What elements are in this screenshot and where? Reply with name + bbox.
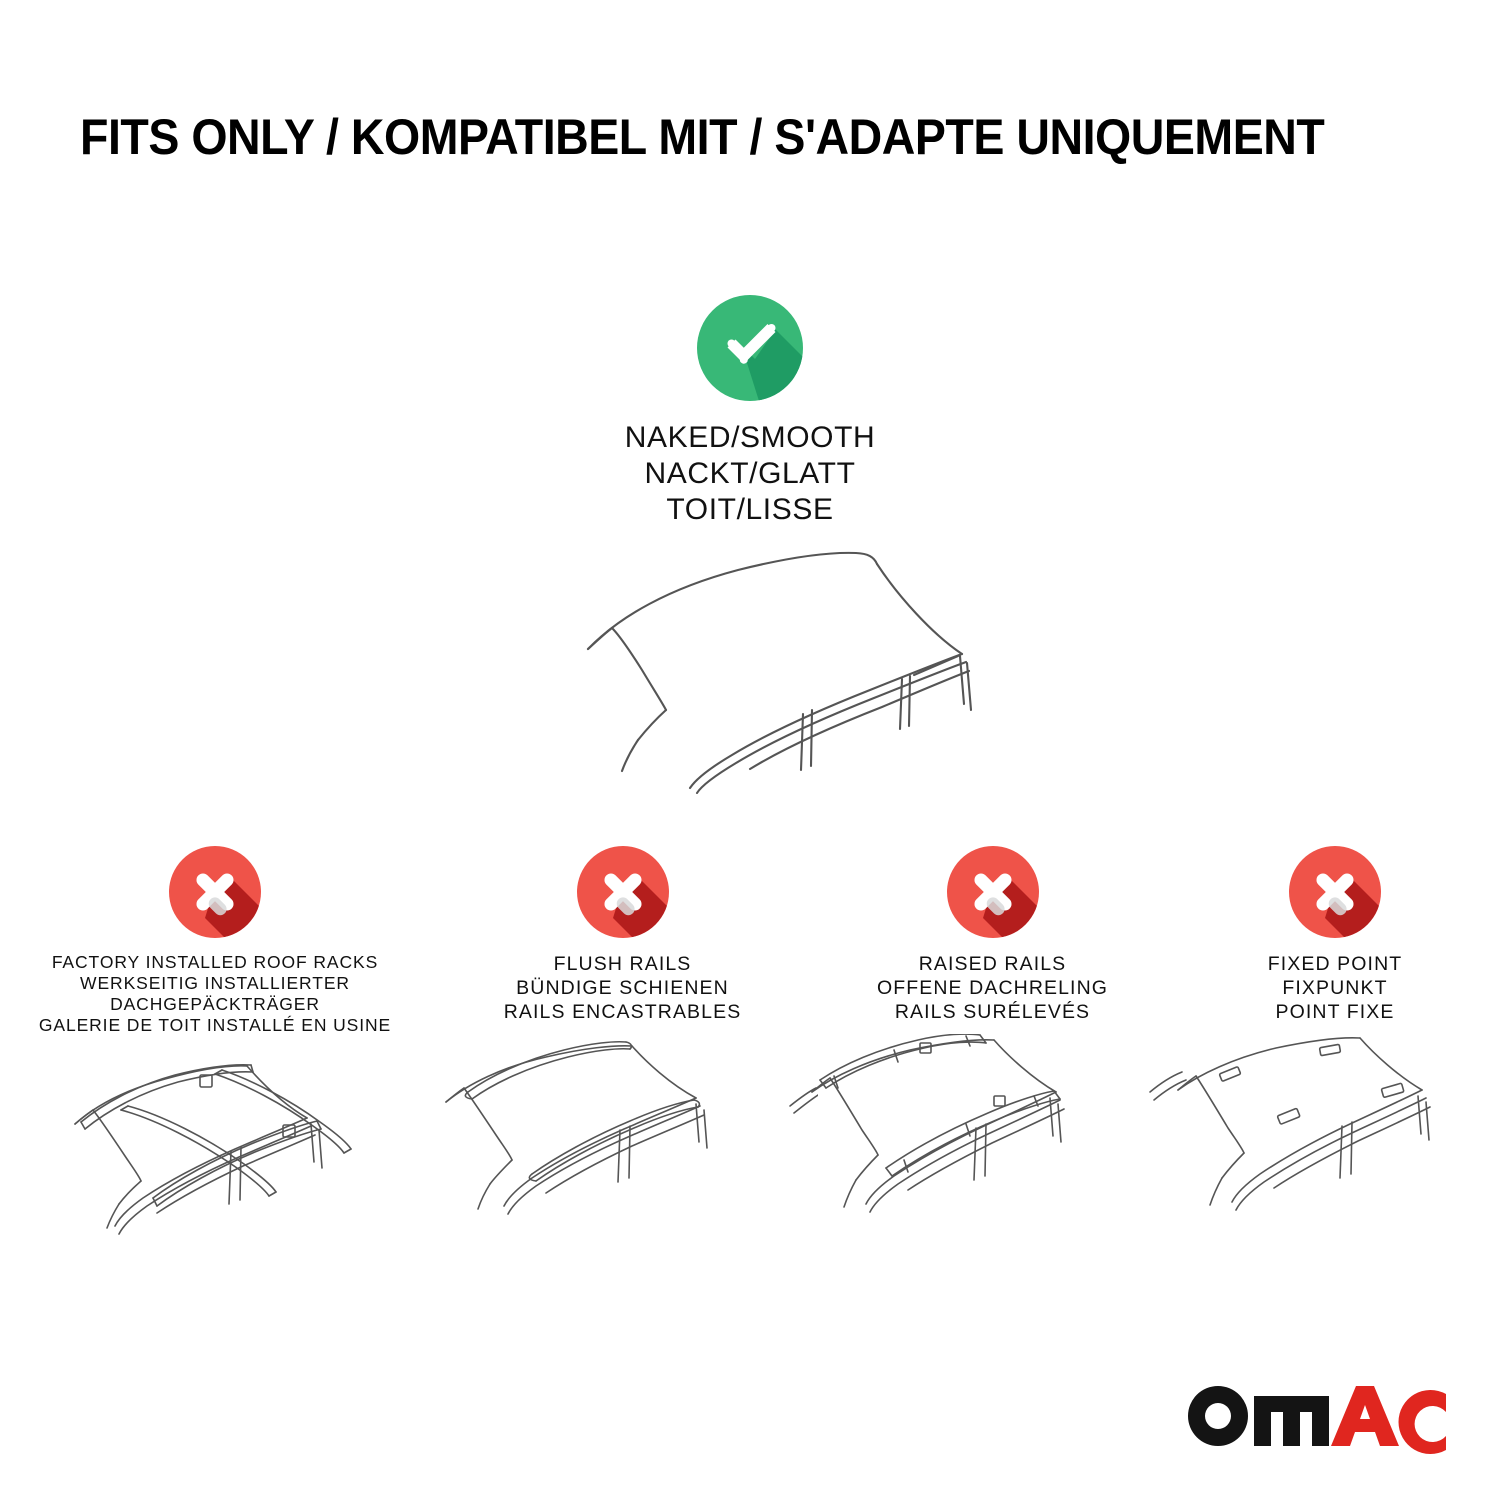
omac-logo-letter-a (1331, 1386, 1399, 1446)
x-circle-icon (577, 840, 669, 944)
page-title: FITS ONLY / KOMPATIBEL MIT / S'ADAPTE UN… (80, 108, 1345, 166)
omac-logo-svg: OMAC (1188, 1374, 1448, 1458)
x-circle-icon (947, 840, 1039, 944)
compatible-label: NAKED/SMOOTH NACKT/GLATT TOIT/LISSE (0, 420, 1500, 528)
incompatible-label-2-line-1: RAISED RAILS (877, 952, 1108, 976)
omac-logo-letter-o (1188, 1386, 1248, 1446)
incompatible-label-0: FACTORY INSTALLED ROOF RACKS WERKSEITIG … (39, 952, 391, 1036)
incompatible-label-0-line-3: DACHGEPÄCKTRÄGER (39, 994, 391, 1015)
car-roof-factory-installed-roof-racks-illustration (15, 1046, 415, 1251)
incompatible-item-raised-rails: RAISED RAILS OFFENE DACHRELING RAILS SUR… (815, 840, 1170, 1239)
incompatible-label-0-line-1: FACTORY INSTALLED ROOF RACKS (39, 952, 391, 973)
incompatible-section: FACTORY INSTALLED ROOF RACKS WERKSEITIG … (0, 840, 1500, 1251)
compatible-label-line-1: NAKED/SMOOTH (0, 420, 1500, 456)
x-circle-icon (169, 840, 261, 944)
car-roof-naked-smooth-svg (470, 544, 1030, 794)
car-roof-fixed-point-illustration (1170, 1034, 1500, 1239)
incompatible-item-fixed-point: FIXED POINT FIXPUNKT POINT FIXE (1170, 840, 1500, 1239)
car-roof-raised-rails-illustration (798, 1034, 1188, 1239)
check-circle-icon-wrap (0, 295, 1500, 406)
incompatible-label-1: FLUSH RAILS BÜNDIGE SCHIENEN RAILS ENCAS… (504, 952, 742, 1024)
incompatible-label-2-line-3: RAILS SURÉLEVÉS (877, 1000, 1108, 1024)
car-roof-fixed-point-svg (1170, 1034, 1500, 1234)
car-roof-flush-rails-svg (428, 1034, 818, 1234)
compatible-section: NAKED/SMOOTH NACKT/GLATT TOIT/LISSE (0, 295, 1500, 799)
incompatible-label-0-line-2: WERKSEITIG INSTALLIERTER (39, 973, 391, 994)
omac-logo: OMAC (1188, 1374, 1448, 1458)
omac-logo-letter-c (1399, 1390, 1446, 1454)
car-roof-raised-rails-svg (798, 1034, 1188, 1234)
check-circle-icon (697, 295, 803, 401)
car-roof-factory-installed-roof-racks-svg (15, 1046, 415, 1246)
incompatible-label-2: RAISED RAILS OFFENE DACHRELING RAILS SUR… (877, 952, 1108, 1024)
compatible-label-line-2: NACKT/GLATT (0, 456, 1500, 492)
incompatible-label-3-line-1: FIXED POINT (1268, 952, 1403, 976)
incompatible-label-1-line-1: FLUSH RAILS (504, 952, 742, 976)
incompatible-label-3: FIXED POINT FIXPUNKT POINT FIXE (1268, 952, 1403, 1024)
incompatible-label-0-line-4: GALERIE DE TOIT INSTALLÉ EN USINE (39, 1015, 391, 1036)
incompatible-label-1-line-3: RAILS ENCASTRABLES (504, 1000, 742, 1024)
car-roof-naked-smooth-illustration (0, 544, 1500, 799)
incompatible-label-1-line-2: BÜNDIGE SCHIENEN (504, 976, 742, 1000)
incompatible-label-3-line-2: FIXPUNKT (1268, 976, 1403, 1000)
omac-logo-letter-m (1254, 1396, 1329, 1446)
x-circle-icon (1289, 840, 1381, 944)
incompatible-label-3-line-3: POINT FIXE (1268, 1000, 1403, 1024)
compatible-label-line-3: TOIT/LISSE (0, 492, 1500, 528)
incompatible-item-flush-rails: FLUSH RAILS BÜNDIGE SCHIENEN RAILS ENCAS… (430, 840, 815, 1239)
incompatible-label-2-line-2: OFFENE DACHRELING (877, 976, 1108, 1000)
incompatible-item-factory-installed-roof-racks: FACTORY INSTALLED ROOF RACKS WERKSEITIG … (0, 840, 430, 1251)
car-roof-flush-rails-illustration (428, 1034, 818, 1239)
